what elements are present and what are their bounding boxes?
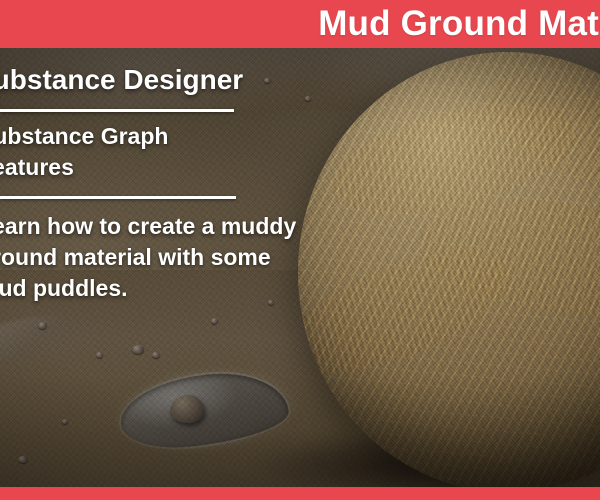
divider-rule-top	[0, 109, 234, 112]
bottom-accent-bar	[0, 487, 600, 500]
title-banner: Mud Ground Material	[0, 0, 600, 48]
thumbnail-stage: Mud Ground Material Substance Designer S…	[0, 0, 600, 500]
info-overlay: Substance Designer Substance Graph Featu…	[0, 62, 256, 304]
divider-rule-bottom	[0, 196, 236, 199]
subhead-line-1: Substance Graph	[0, 121, 256, 152]
headline-software-name: Substance Designer	[0, 62, 256, 98]
description-line-1: Learn how to create a muddy	[0, 211, 256, 242]
page-title: Mud Ground Material	[318, 0, 600, 48]
description-line-2: ground material with some	[0, 242, 256, 273]
description-line-3: mud puddles.	[0, 273, 256, 304]
subhead-line-2: Features	[0, 152, 256, 183]
